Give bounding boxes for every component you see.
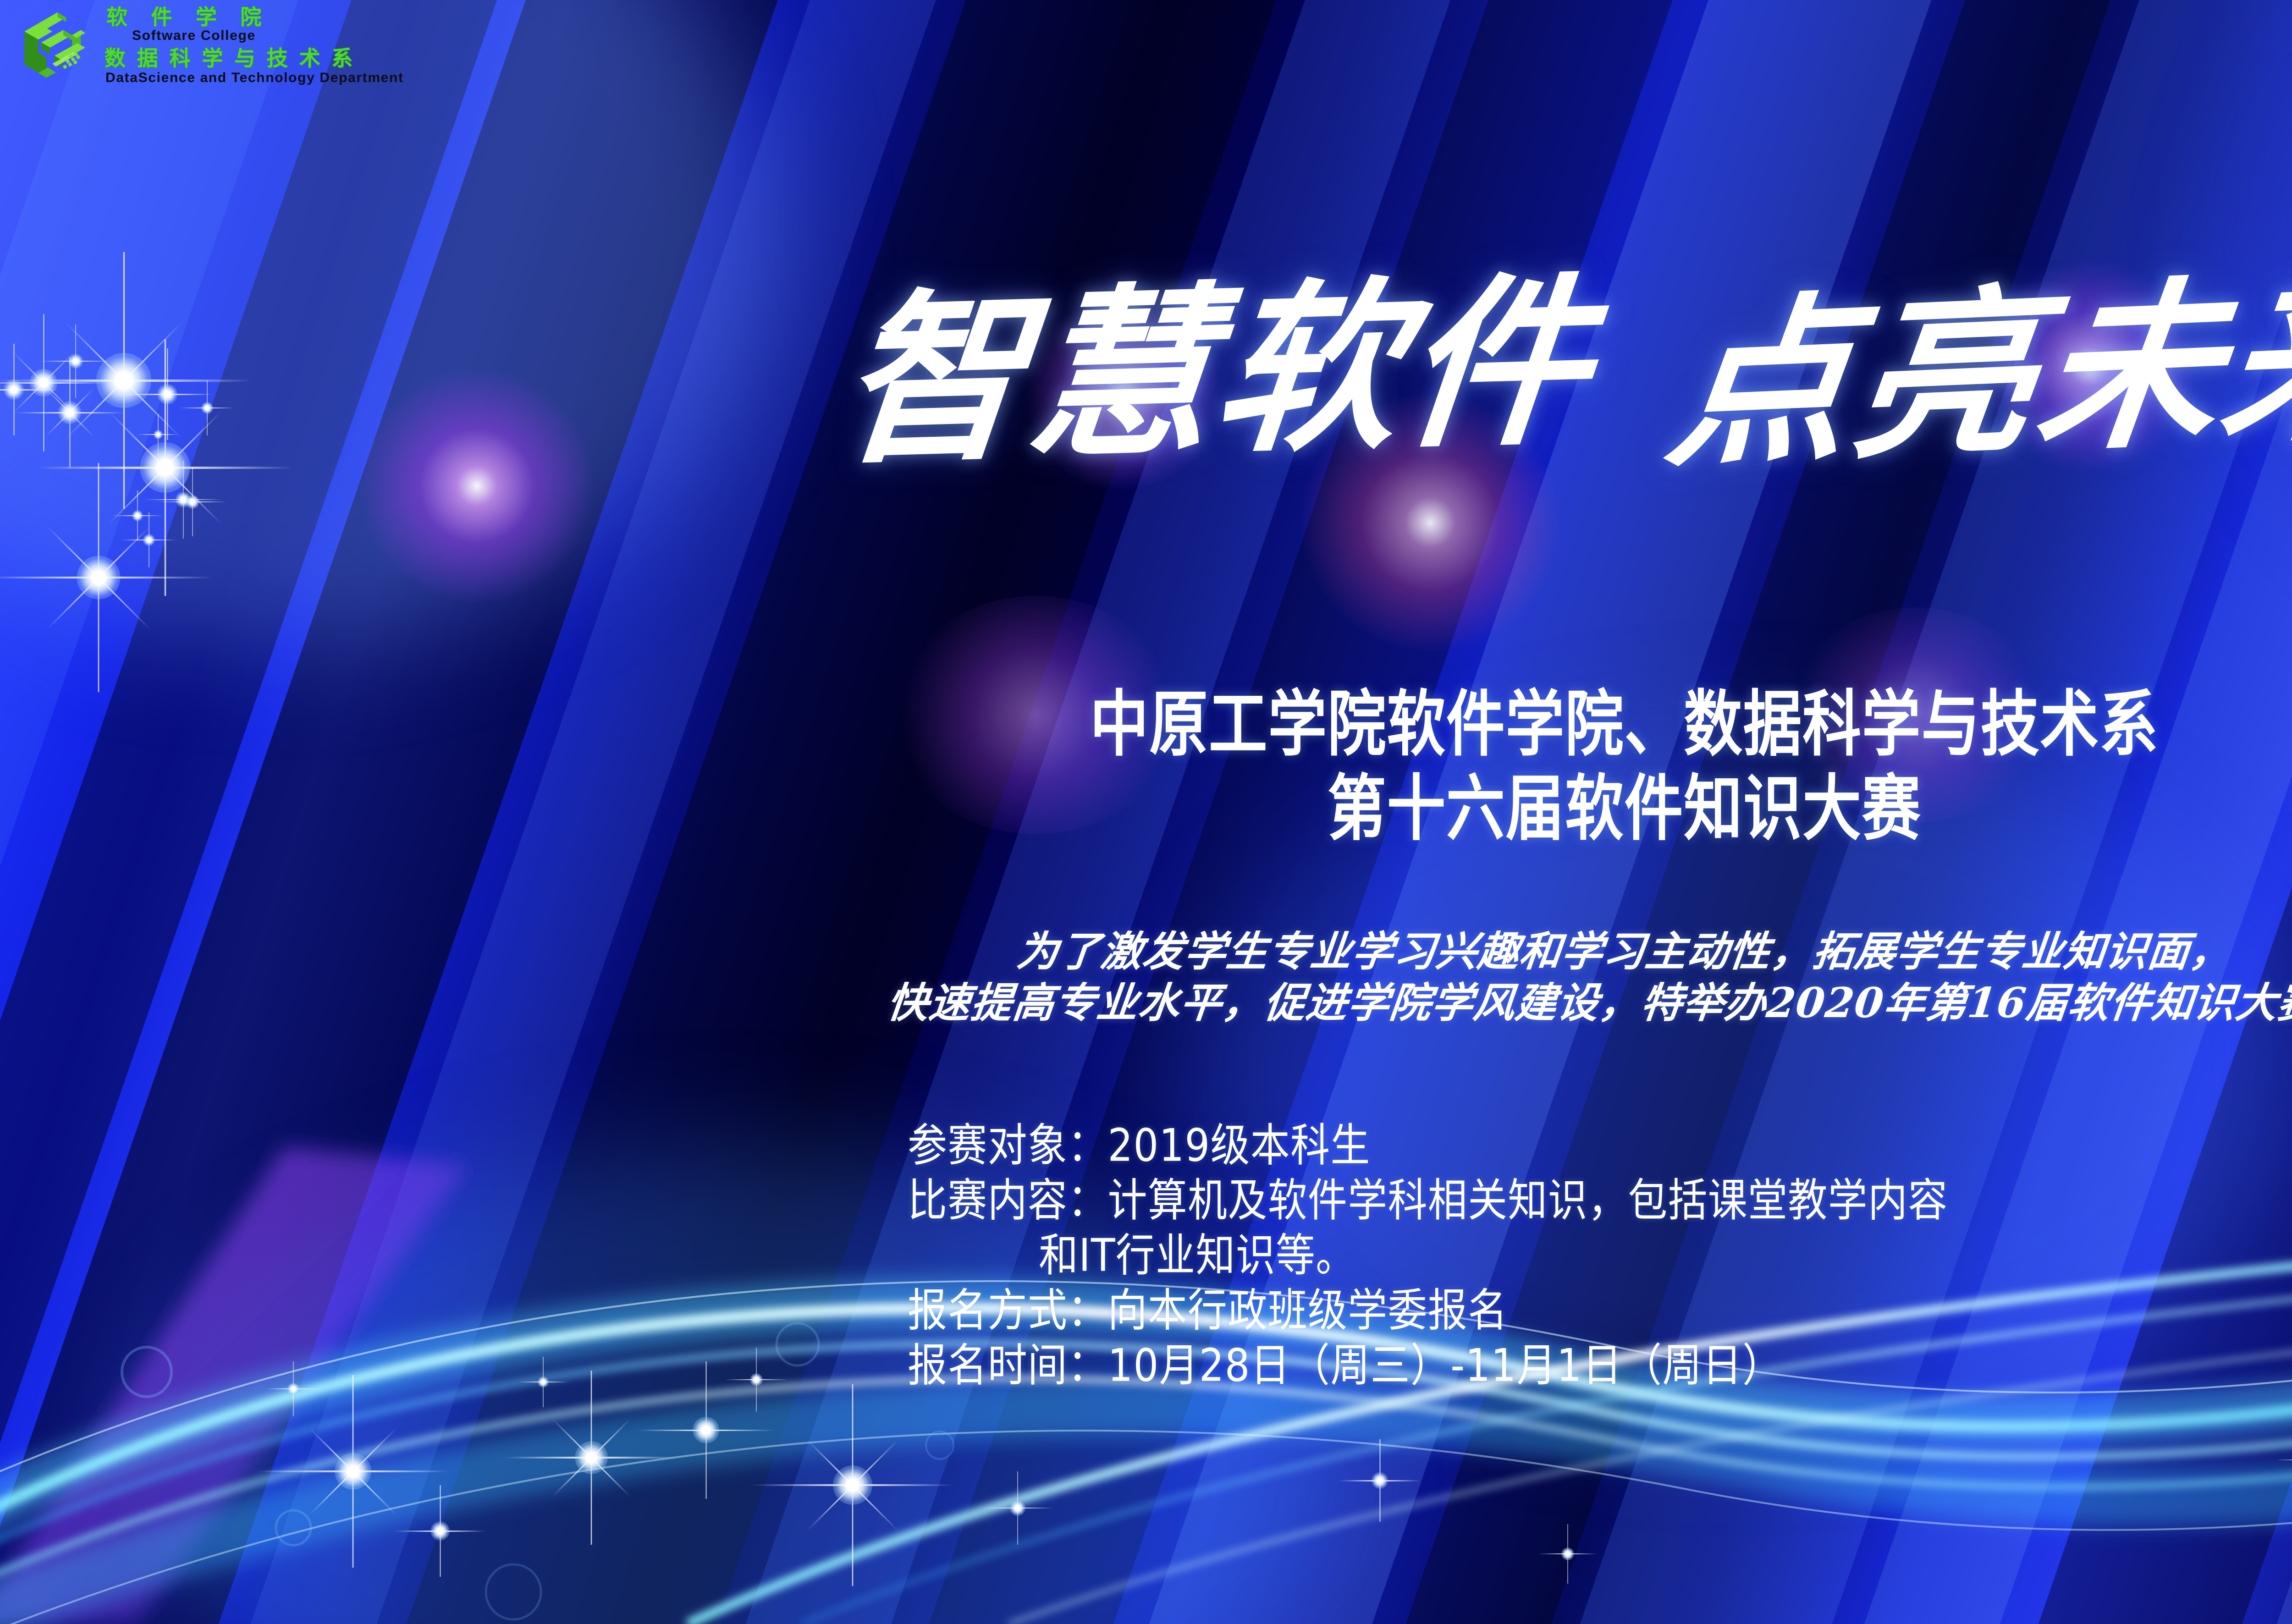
body-paragraph-line-1: 为了激发学生专业学习兴趣和学习主动性，拓展学生专业知识面， bbox=[0, 926, 2292, 977]
detail-value-content-continued: 和IT行业知识等。 bbox=[908, 1228, 2292, 1283]
detail-value-participants: 2019级本科生 bbox=[1107, 1118, 1370, 1173]
hero-title-part-1: 智慧软件 bbox=[832, 269, 1600, 473]
logo-cn-software-college: 软 件 学 院 bbox=[105, 6, 404, 28]
detail-row-participants: 参赛对象： 2019级本科生 bbox=[908, 1118, 2292, 1173]
detail-row-signup-time: 报名时间： 10月28日（周三）-11月1日（周日） bbox=[908, 1338, 2292, 1393]
logo-en-datascience-dept: DataScience and Technology Department bbox=[105, 71, 404, 85]
subtitle-organizers: 中原工学院软件学院、数据科学与技术系 bbox=[0, 683, 2292, 767]
hero-title: 智慧软件 点亮未来 bbox=[0, 197, 2292, 545]
logo-text-block: 软 件 学 院 Software College 数 据 科 学 与 技 术 系… bbox=[105, 6, 404, 85]
software-college-mark-icon bbox=[19, 8, 93, 83]
detail-label-signup-method: 报名方式： bbox=[908, 1283, 1107, 1338]
logo-cn-datascience-dept: 数 据 科 学 与 技 术 系 bbox=[105, 47, 404, 70]
subtitle-block: 中原工学院软件学院、数据科学与技术系 第十六届软件知识大赛 bbox=[0, 683, 2292, 836]
subtitle-event-name: 第十六届软件知识大赛 bbox=[0, 767, 2292, 851]
detail-label-participants: 参赛对象： bbox=[908, 1118, 1107, 1173]
detail-label-content: 比赛内容： bbox=[908, 1173, 1107, 1228]
poster-canvas: 软 件 学 院 Software College 数 据 科 学 与 技 术 系… bbox=[0, 0, 2292, 1624]
detail-value-signup-time: 10月28日（周三）-11月1日（周日） bbox=[1107, 1338, 1782, 1393]
detail-row-content: 比赛内容： 计算机及软件学科相关知识，包括课堂教学内容 bbox=[908, 1173, 2292, 1228]
hero-title-part-2: 点亮未来 bbox=[1660, 266, 2292, 477]
detail-value-content: 计算机及软件学科相关知识，包括课堂教学内容 bbox=[1107, 1173, 1948, 1228]
detail-label-signup-time: 报名时间： bbox=[908, 1338, 1107, 1393]
body-paragraph-line-2: 快速提高专业水平，促进学院学风建设，特举办2020年第16届软件知识大赛。 bbox=[0, 977, 2292, 1029]
institution-logo: 软 件 学 院 Software College 数 据 科 学 与 技 术 系… bbox=[19, 6, 514, 84]
body-paragraph: 为了激发学生专业学习兴趣和学习主动性，拓展学生专业知识面， 快速提高专业水平，促… bbox=[0, 926, 2292, 1029]
detail-list: 参赛对象： 2019级本科生 比赛内容： 计算机及软件学科相关知识，包括课堂教学… bbox=[908, 1118, 2292, 1393]
logo-en-software-college: Software College bbox=[105, 28, 404, 43]
detail-value-signup-method: 向本行政班级学委报名 bbox=[1107, 1283, 1508, 1338]
detail-row-signup-method: 报名方式： 向本行政班级学委报名 bbox=[908, 1283, 2292, 1338]
